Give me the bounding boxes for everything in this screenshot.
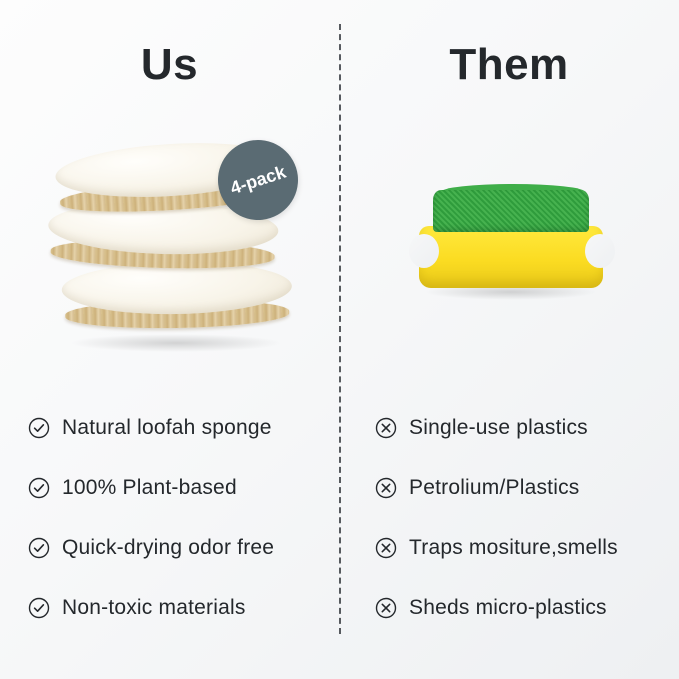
list-item: Single-use plastics bbox=[375, 398, 675, 458]
yellow-foam-body bbox=[419, 226, 603, 288]
list-item: 100% Plant-based bbox=[28, 458, 328, 518]
check-circle-icon bbox=[28, 417, 50, 439]
list-item: Petrolium/Plastics bbox=[375, 458, 675, 518]
list-item: Natural loofah sponge bbox=[28, 398, 328, 458]
list-item-label: Traps mositure,smells bbox=[409, 536, 618, 560]
product-image-us: 4-pack bbox=[0, 120, 339, 370]
list-item-label: Natural loofah sponge bbox=[62, 416, 272, 440]
comparison-graphic: Us Them 4-pack bbox=[0, 0, 679, 679]
column-heading-them: Them bbox=[339, 40, 679, 90]
check-circle-icon bbox=[28, 597, 50, 619]
plastic-scour-sponge-icon bbox=[411, 190, 611, 310]
list-item: Traps mositure,smells bbox=[375, 518, 675, 578]
check-circle-icon bbox=[28, 477, 50, 499]
list-item-label: Petrolium/Plastics bbox=[409, 476, 579, 500]
foam-notch-right bbox=[585, 234, 615, 268]
list-item: Quick-drying odor free bbox=[28, 518, 328, 578]
list-item-label: Single-use plastics bbox=[409, 416, 588, 440]
list-item-label: Non-toxic materials bbox=[62, 596, 246, 620]
list-item-label: 100% Plant-based bbox=[62, 476, 237, 500]
green-scour-pad bbox=[433, 190, 589, 232]
feature-list-us: Natural loofah sponge 100% Plant-based Q… bbox=[28, 398, 328, 638]
cross-circle-icon bbox=[375, 597, 397, 619]
check-circle-icon bbox=[28, 537, 50, 559]
list-item-label: Quick-drying odor free bbox=[62, 536, 274, 560]
cross-circle-icon bbox=[375, 537, 397, 559]
list-item: Non-toxic materials bbox=[28, 578, 328, 638]
list-item: Sheds micro-plastics bbox=[375, 578, 675, 638]
cross-circle-icon bbox=[375, 417, 397, 439]
foam-notch-left bbox=[409, 234, 439, 268]
list-item-label: Sheds micro-plastics bbox=[409, 596, 607, 620]
cross-circle-icon bbox=[375, 477, 397, 499]
product-image-them bbox=[339, 120, 679, 370]
feature-list-them: Single-use plastics Petrolium/Plastics T… bbox=[375, 398, 675, 638]
column-heading-us: Us bbox=[0, 40, 339, 90]
